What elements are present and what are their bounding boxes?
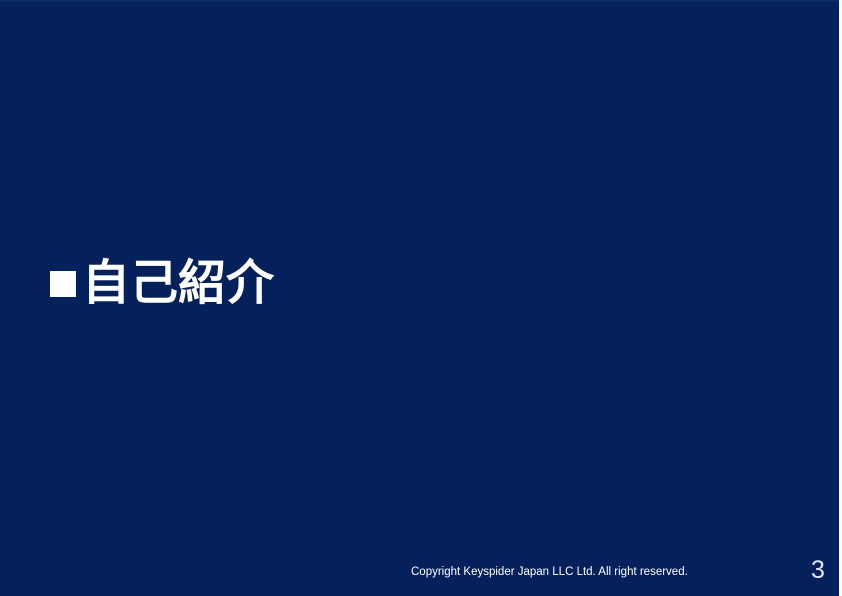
- slide-title: 自己紹介: [50, 258, 274, 310]
- bullet-square-icon: [50, 271, 76, 297]
- presentation-slide: 自己紹介 Copyright Keyspider Japan LLC Ltd. …: [0, 0, 842, 596]
- top-edge-rule: [0, 0, 842, 2]
- footer-copyright: Copyright Keyspider Japan LLC Ltd. All r…: [411, 566, 688, 580]
- page-number: 3: [805, 558, 831, 583]
- slide-title-text: 自己紹介: [82, 258, 274, 310]
